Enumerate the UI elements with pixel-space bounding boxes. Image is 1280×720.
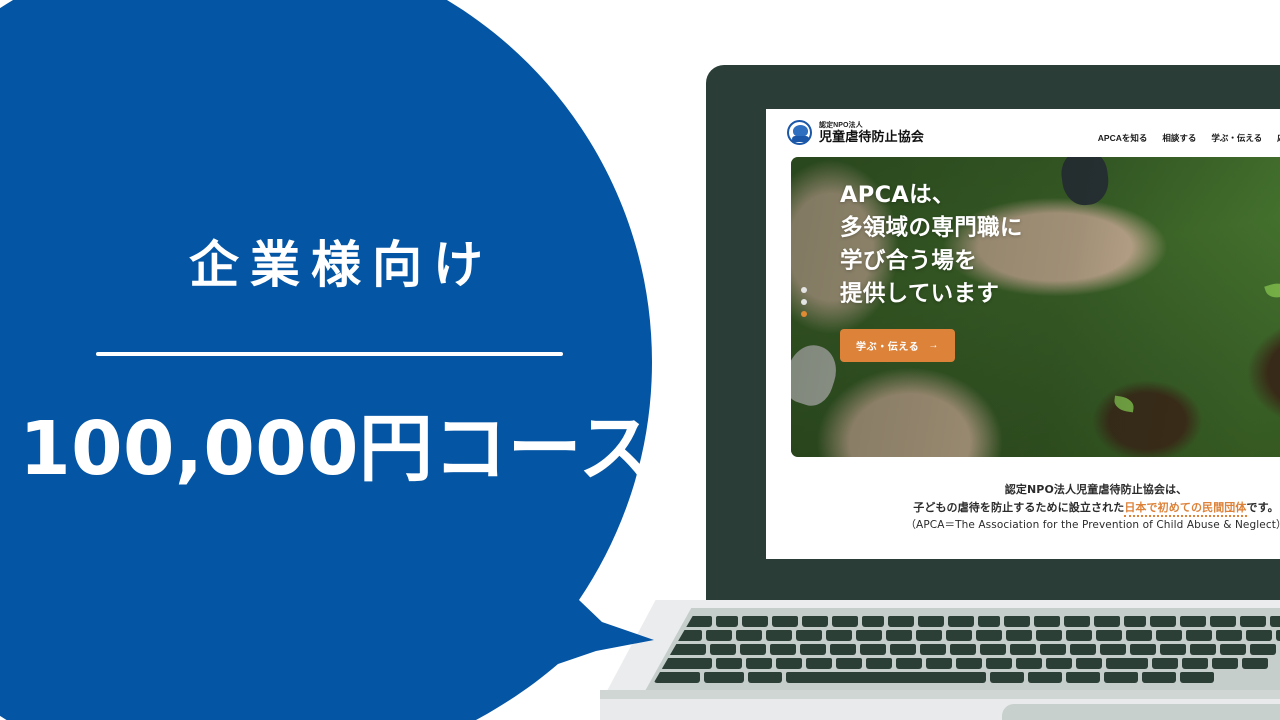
keyboard-key xyxy=(1142,672,1176,683)
keyboard-key xyxy=(920,644,946,655)
keyboard-key xyxy=(916,630,942,641)
keyboard-key xyxy=(1004,616,1030,627)
keyboard-key xyxy=(1182,658,1208,669)
keyboard-key xyxy=(926,658,952,669)
keyboard-key xyxy=(1180,616,1206,627)
description-highlight: 日本で初めての民間団体 xyxy=(1124,501,1246,517)
keyboard-key xyxy=(890,644,916,655)
laptop-base-edge xyxy=(600,690,1280,699)
keyboard-key xyxy=(836,658,862,669)
keyboard-key xyxy=(1190,644,1216,655)
description-line-2-pre: 子どもの虐待を防止するために設立された xyxy=(913,501,1124,514)
keyboard-key xyxy=(704,672,744,683)
keyboard-key xyxy=(706,630,732,641)
keyboard-key xyxy=(1150,616,1176,627)
keyboard-key xyxy=(1034,616,1060,627)
keyboard-key xyxy=(956,658,982,669)
keyboard-row xyxy=(678,616,1280,627)
keyboard-key xyxy=(918,616,944,627)
keyboard-key xyxy=(736,630,762,641)
site-logo[interactable]: 認定NPO法人 児童虐待防止協会 xyxy=(787,120,924,145)
keyboard-key xyxy=(770,644,796,655)
keyboard-key xyxy=(1094,616,1120,627)
keyboard-key xyxy=(976,630,1002,641)
keyboard-key xyxy=(716,616,738,627)
keyboard-key xyxy=(1160,644,1186,655)
keyboard-key xyxy=(1036,630,1062,641)
keyboard-key xyxy=(1064,616,1090,627)
keyboard-key xyxy=(1250,644,1276,655)
keyboard-key xyxy=(830,644,856,655)
keyboard-key xyxy=(986,658,1012,669)
site-description: 認定NPO法人児童虐待防止協会は、 子どもの虐待を防止するために設立された日本で… xyxy=(766,481,1280,534)
arrow-right-icon: → xyxy=(928,340,939,351)
keyboard-key xyxy=(946,630,972,641)
hero-copy: APCAは、 多領域の専門職に 学び合う場を 提供しています 学ぶ・伝える → xyxy=(840,179,1023,362)
keyboard-key xyxy=(1276,630,1280,641)
laptop-front-notch xyxy=(1002,704,1280,720)
keyboard-key xyxy=(1186,630,1212,641)
keyboard-key xyxy=(866,658,892,669)
keyboard-key xyxy=(1070,644,1096,655)
laptop-keyboard xyxy=(646,612,1280,696)
description-line-2: 子どもの虐待を防止するために設立された日本で初めての民間団体です。 xyxy=(766,499,1280,517)
description-line-1: 認定NPO法人児童虐待防止協会は、 xyxy=(766,481,1280,499)
keyboard-key xyxy=(896,658,922,669)
keyboard-key xyxy=(772,616,798,627)
keyboard-key xyxy=(948,616,974,627)
laptop-lid: 認定NPO法人 児童虐待防止協会 ›会員・寄付者ページ APCAを知る 相談する… xyxy=(706,65,1280,600)
keyboard-key xyxy=(950,644,976,655)
keyboard-key xyxy=(766,630,792,641)
keyboard-key xyxy=(1046,658,1072,669)
keyboard-key xyxy=(1216,630,1242,641)
hero-line-2: 多領域の専門職に xyxy=(840,212,1023,245)
keyboard-key xyxy=(786,672,986,683)
keyboard-key xyxy=(776,658,802,669)
keyboard-key xyxy=(978,616,1000,627)
hero-line-1: APCAは、 xyxy=(840,179,1023,212)
brand-subtitle: 認定NPO法人 xyxy=(819,122,924,129)
keyboard-key xyxy=(1028,672,1062,683)
site-nav: APCAを知る 相談する 学ぶ・伝える 応援する お知らせ xyxy=(1098,132,1280,144)
keyboard-key xyxy=(1156,630,1182,641)
keyboard-key xyxy=(1212,658,1238,669)
hero-line-4: 提供しています xyxy=(840,278,1023,311)
keyboard-key xyxy=(1066,672,1100,683)
keyboard-key xyxy=(1210,616,1236,627)
keyboard-key xyxy=(1246,630,1272,641)
keyboard-key xyxy=(1010,644,1036,655)
keyboard-key xyxy=(1066,630,1092,641)
keyboard-key xyxy=(1126,630,1152,641)
keyboard-key xyxy=(1180,672,1214,683)
brand-text: 認定NPO法人 児童虐待防止協会 xyxy=(819,122,924,144)
nav-item-about[interactable]: APCAを知る xyxy=(1098,132,1148,144)
keyboard-key xyxy=(1240,616,1266,627)
keyboard-row xyxy=(672,630,1280,641)
hero-cta-label: 学ぶ・伝える xyxy=(856,338,919,353)
keyboard-row xyxy=(654,672,1214,683)
keyboard-key xyxy=(1242,658,1268,669)
keyboard-key xyxy=(980,644,1006,655)
keyboard-key xyxy=(1100,644,1126,655)
keyboard-key xyxy=(800,644,826,655)
keyboard-key xyxy=(862,616,884,627)
hero-slider-dots[interactable] xyxy=(801,287,807,317)
keyboard-key xyxy=(802,616,828,627)
hero-cta-button[interactable]: 学ぶ・伝える → xyxy=(840,329,955,362)
keyboard-key xyxy=(1104,672,1138,683)
brand-name: 児童虐待防止協会 xyxy=(819,130,924,144)
keyboard-row xyxy=(660,658,1268,669)
description-line-3: （APCA＝The Association for the Prevention… xyxy=(766,517,1280,534)
keyboard-key xyxy=(832,616,858,627)
slider-dot-1[interactable] xyxy=(801,287,807,293)
apca-logo-icon xyxy=(787,120,812,145)
nav-item-consult[interactable]: 相談する xyxy=(1162,132,1196,144)
keyboard-row xyxy=(666,644,1276,655)
keyboard-key xyxy=(826,630,852,641)
speech-bubble-shape xyxy=(0,0,670,720)
keyboard-key xyxy=(856,630,882,641)
keyboard-key xyxy=(1106,658,1148,669)
laptop-screen: 認定NPO法人 児童虐待防止協会 ›会員・寄付者ページ APCAを知る 相談する… xyxy=(766,109,1280,559)
keyboard-key xyxy=(1220,644,1246,655)
keyboard-key xyxy=(716,658,742,669)
keyboard-key xyxy=(742,616,768,627)
keyboard-key xyxy=(746,658,772,669)
keyboard-key xyxy=(1270,616,1280,627)
keyboard-key xyxy=(796,630,822,641)
keyboard-key xyxy=(806,658,832,669)
keyboard-key xyxy=(1152,658,1178,669)
slider-dot-2[interactable] xyxy=(801,299,807,305)
keyboard-key xyxy=(1096,630,1122,641)
site-header: 認定NPO法人 児童虐待防止協会 ›会員・寄付者ページ APCAを知る 相談する… xyxy=(766,109,1280,157)
keyboard-key xyxy=(886,630,912,641)
hero-line-3: 学び合う場を xyxy=(840,245,1023,278)
hero-banner: APCAは、 多領域の専門職に 学び合う場を 提供しています 学ぶ・伝える → xyxy=(791,157,1280,457)
keyboard-key xyxy=(990,672,1024,683)
laptop-illustration: 認定NPO法人 児童虐待防止協会 ›会員・寄付者ページ APCAを知る 相談する… xyxy=(672,0,1280,720)
keyboard-key xyxy=(860,644,886,655)
keyboard-key xyxy=(1124,616,1146,627)
description-line-2-post: です。 xyxy=(1247,501,1279,514)
keyboard-key xyxy=(748,672,782,683)
keyboard-key xyxy=(1130,644,1156,655)
speech-bubble xyxy=(0,0,670,720)
keyboard-key xyxy=(710,644,736,655)
slider-dot-3[interactable] xyxy=(801,311,807,317)
keyboard-key xyxy=(1076,658,1102,669)
nav-item-learn[interactable]: 学ぶ・伝える xyxy=(1211,132,1262,144)
keyboard-key xyxy=(888,616,914,627)
keyboard-key xyxy=(1016,658,1042,669)
keyboard-key xyxy=(740,644,766,655)
keyboard-key xyxy=(1006,630,1032,641)
keyboard-key xyxy=(1040,644,1066,655)
